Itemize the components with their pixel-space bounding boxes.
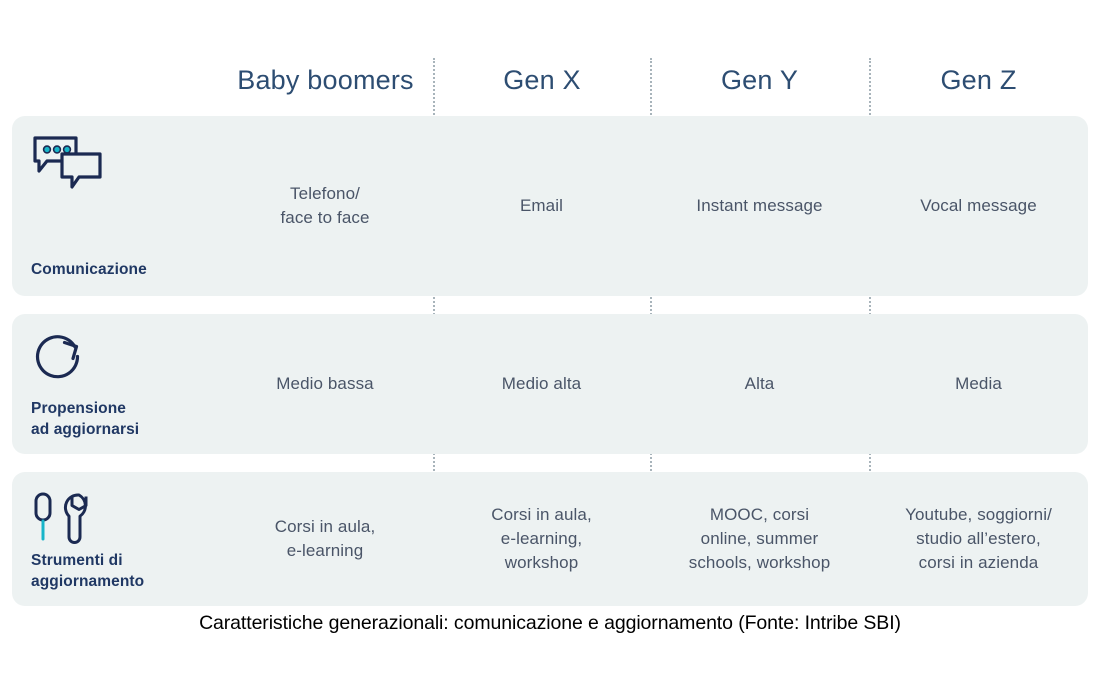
generations-comparison-infographic: Baby boomers Gen X Gen Y Gen Z Comunicaz… bbox=[0, 0, 1100, 685]
cell-gen-x: Email bbox=[433, 116, 650, 296]
cell-baby-boomers: Telefono/face to face bbox=[217, 116, 433, 296]
comparison-table: Baby boomers Gen X Gen Y Gen Z Comunicaz… bbox=[12, 48, 1088, 560]
header-cell-gen-y: Gen Y bbox=[650, 66, 869, 96]
screwdriver-wrench-icon bbox=[31, 490, 217, 546]
cell-gen-x: Corsi in aula,e-learning,workshop bbox=[433, 472, 650, 606]
row-label: Strumenti diaggiornamento bbox=[31, 551, 144, 592]
header-cell-gen-z: Gen Z bbox=[869, 66, 1088, 96]
row-label-cell: Strumenti diaggiornamento bbox=[12, 472, 217, 606]
table-row: Strumenti diaggiornamento Corsi in aula,… bbox=[12, 472, 1088, 606]
table-header-row: Baby boomers Gen X Gen Y Gen Z bbox=[12, 48, 1088, 114]
table-row: Comunicazione Telefono/face to face Emai… bbox=[12, 116, 1088, 296]
row-label: Propensionead aggiornarsi bbox=[31, 399, 139, 440]
cell-gen-y: Alta bbox=[650, 314, 869, 454]
table-row: Propensionead aggiornarsi Medio bassa Me… bbox=[12, 314, 1088, 454]
row-label-cell: Comunicazione bbox=[12, 116, 217, 296]
refresh-circle-icon bbox=[31, 332, 217, 388]
cell-gen-z: Vocal message bbox=[869, 116, 1088, 296]
cell-gen-y: Instant message bbox=[650, 116, 869, 296]
speech-bubbles-icon bbox=[31, 134, 217, 190]
cell-gen-z: Media bbox=[869, 314, 1088, 454]
cell-gen-x: Medio alta bbox=[433, 314, 650, 454]
cell-gen-z: Youtube, soggiorni/studio all’estero,cor… bbox=[869, 472, 1088, 606]
row-label-cell: Propensionead aggiornarsi bbox=[12, 314, 217, 454]
cell-gen-y: MOOC, corsionline, summerschools, worksh… bbox=[650, 472, 869, 606]
figure-caption: Caratteristiche generazionali: comunicaz… bbox=[0, 612, 1100, 635]
row-label: Comunicazione bbox=[31, 260, 147, 280]
header-cell-gen-x: Gen X bbox=[434, 66, 650, 96]
header-cell-baby-boomers: Baby boomers bbox=[217, 66, 434, 96]
cell-baby-boomers: Corsi in aula,e-learning bbox=[217, 472, 433, 606]
cell-baby-boomers: Medio bassa bbox=[217, 314, 433, 454]
